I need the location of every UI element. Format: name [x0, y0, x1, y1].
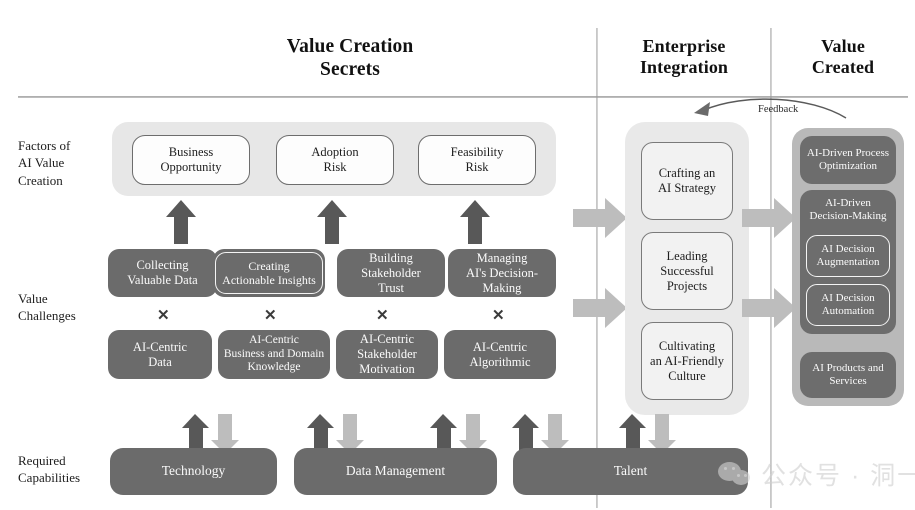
right-arrow-icon: [573, 198, 627, 238]
value-label: AI-Driven Process Optimization: [807, 147, 889, 173]
watermark-text: 公众号 · 洞一研究: [761, 456, 915, 492]
challenge-label: AI-Centric Stakeholder Motivation: [357, 332, 417, 377]
value-box-ai-decision-automation[interactable]: AI Decision Automation: [806, 284, 890, 326]
challenge-box-creating-actionable-insights[interactable]: Creating Actionable Insights: [215, 252, 323, 294]
integration-label: Cultivating an AI-Friendly Culture: [650, 339, 724, 384]
capability-box-technology[interactable]: Technology: [110, 448, 277, 495]
column-heading-value-creation-secrets: Value Creation Secrets: [215, 36, 485, 81]
factor-box-adoption-risk[interactable]: Adoption Risk: [276, 135, 394, 185]
challenge-box-building-stakeholder-trust[interactable]: Building Stakeholder Trust: [337, 249, 445, 297]
right-arrow-icon: [742, 198, 796, 238]
capability-box-data-management[interactable]: Data Management: [294, 448, 497, 495]
value-box-ai-products-and-services[interactable]: AI Products and Services: [800, 352, 896, 398]
challenge-label: Managing AI's Decision- Making: [466, 251, 538, 296]
column-heading-value-created: Value Created: [778, 36, 908, 78]
flow-arrow-secrets-to-integration-top: [573, 198, 627, 238]
row-label-value-challenges: Value Challenges: [18, 290, 113, 325]
header-divider-line: [18, 96, 908, 98]
challenge-label: AI-Centric Business and Domain Knowledge: [224, 334, 324, 375]
row-label-text: Factors of AI Value Creation: [18, 137, 113, 189]
column-heading-enterprise-integration: Enterprise Integration: [604, 36, 764, 78]
multiplier-symbol-4: ✕: [492, 308, 505, 323]
capability-label: Talent: [614, 463, 648, 479]
challenge-label: AI-Centric Data: [133, 340, 187, 370]
integration-box-cultivating-ai-friendly-culture[interactable]: Cultivating an AI-Friendly Culture: [641, 322, 733, 400]
challenge-box-ai-centric-algorithmic[interactable]: AI-Centric Algorithmic: [444, 330, 556, 379]
factor-box-business-opportunity[interactable]: Business Opportunity: [132, 135, 250, 185]
capability-label: Technology: [162, 463, 226, 479]
feedback-label-text: Feedback: [758, 104, 798, 115]
factor-label: Feasibility Risk: [451, 145, 504, 175]
challenge-box-collecting-valuable-data[interactable]: Collecting Valuable Data: [108, 249, 217, 297]
right-arrow-icon: [573, 288, 627, 328]
factor-box-feasibility-risk[interactable]: Feasibility Risk: [418, 135, 536, 185]
challenge-label: Collecting Valuable Data: [127, 258, 197, 288]
diagram-canvas: Value Creation Secrets Enterprise Integr…: [0, 0, 915, 510]
factor-label: Adoption Risk: [311, 145, 358, 175]
integration-box-leading-successful-projects[interactable]: Leading Successful Projects: [641, 232, 733, 310]
row-label-required-capabilities: Required Capabilities: [18, 452, 113, 487]
value-box-ai-decision-augmentation[interactable]: AI Decision Augmentation: [806, 235, 890, 277]
capability-label: Data Management: [346, 463, 445, 479]
integration-label: Crafting an AI Strategy: [658, 166, 716, 196]
challenge-box-ai-centric-data[interactable]: AI-Centric Data: [108, 330, 212, 379]
challenge-box-managing-ai-decision-making[interactable]: Managing AI's Decision- Making: [448, 249, 556, 297]
flow-arrow-secrets-to-integration-bottom: [573, 288, 627, 328]
upward-arrows-group: [120, 200, 550, 246]
multiplier-glyph: ✕: [157, 307, 170, 324]
multiplier-symbol-2: ✕: [264, 308, 277, 323]
factor-label: Business Opportunity: [160, 145, 221, 175]
challenge-label: Building Stakeholder Trust: [361, 251, 421, 296]
multiplier-glyph: ✕: [492, 307, 505, 324]
challenge-label: AI-Centric Algorithmic: [469, 340, 530, 370]
multiplier-glyph: ✕: [264, 307, 277, 324]
capability-box-talent[interactable]: Talent: [513, 448, 748, 495]
challenge-box-ai-centric-business-domain-knowledge[interactable]: AI-Centric Business and Domain Knowledge: [218, 330, 330, 379]
value-label: AI-Driven Decision-Making: [810, 197, 887, 223]
feedback-label: Feedback: [758, 104, 798, 115]
value-label: AI Products and Services: [812, 362, 884, 388]
column-heading-label: Value Creation Secrets: [215, 36, 485, 81]
row-label-text: Required Capabilities: [18, 452, 113, 487]
multiplier-symbol-1: ✕: [157, 308, 170, 323]
up-arrow-icon: [317, 200, 347, 244]
integration-label: Leading Successful Projects: [660, 249, 713, 294]
column-heading-label: Enterprise Integration: [604, 36, 764, 78]
challenge-label: Creating Actionable Insights: [222, 259, 316, 288]
up-arrow-icon: [460, 200, 490, 244]
value-sublabel: AI Decision Automation: [821, 292, 874, 318]
flow-arrow-integration-to-value-top: [742, 198, 796, 238]
flow-arrow-integration-to-value-bottom: [742, 288, 796, 328]
row-label-text: Value Challenges: [18, 290, 113, 325]
integration-box-crafting-ai-strategy[interactable]: Crafting an AI Strategy: [641, 142, 733, 220]
value-box-ai-driven-process-optimization[interactable]: AI-Driven Process Optimization: [800, 136, 896, 184]
multiplier-glyph: ✕: [376, 307, 389, 324]
column-heading-label: Value Created: [778, 36, 908, 78]
row-label-factors: Factors of AI Value Creation: [18, 137, 113, 189]
column-divider-left: [596, 28, 598, 508]
up-arrow-icon: [166, 200, 196, 244]
multiplier-symbol-3: ✕: [376, 308, 389, 323]
arrow-head-icon: [694, 102, 710, 116]
column-divider-right: [770, 28, 772, 508]
value-sublabel: AI Decision Augmentation: [817, 243, 880, 269]
right-arrow-icon: [742, 288, 796, 328]
challenge-box-ai-centric-stakeholder-motivation[interactable]: AI-Centric Stakeholder Motivation: [336, 330, 438, 379]
